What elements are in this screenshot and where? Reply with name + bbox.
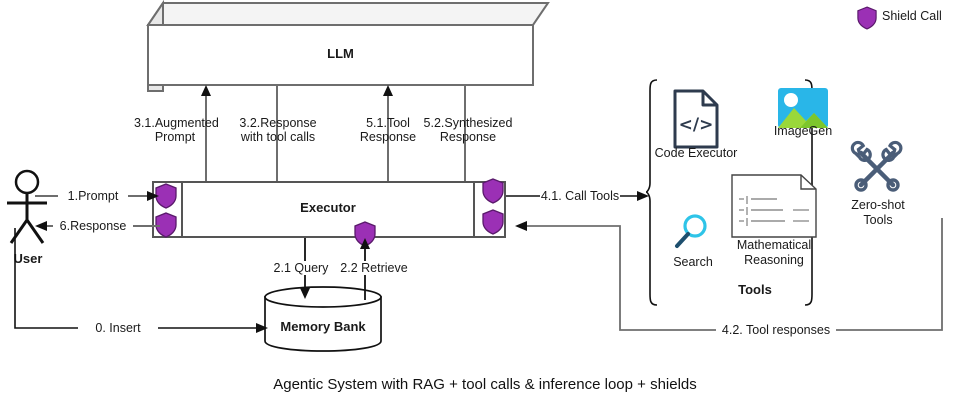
edge-2-1-label: 2.1 Query [266,261,336,275]
shield-icon [482,209,504,235]
math-document-icon [731,174,817,238]
code-document-icon: </> [672,88,720,150]
executor-label: Executor [182,201,474,215]
shield-icon [482,178,504,204]
edge-3-2-label: 3.2.Response with tool calls [233,116,323,144]
legend-label: Shield Call [882,9,968,23]
tool-label-imagegen: ImageGen [770,124,836,139]
tools-group-label: Tools [700,283,810,297]
edge-4-1-label: 4.1. Call Tools [540,189,620,203]
edge-0-label: 0. Insert [78,321,158,335]
svg-text:</>: </> [679,115,714,135]
legend [857,6,877,30]
edge-4-2-label: 4.2. Tool responses [716,323,836,337]
tool-label-search: Search [660,255,726,270]
crossed-wrenches-icon [850,142,904,196]
edge-5-2-label: 5.2.Synthesized Response [422,116,514,144]
llm-label: LLM [148,47,533,61]
edge-1-label: 1.Prompt [58,189,128,203]
diagram-caption: Agentic System with RAG + tool calls & i… [0,376,970,393]
memory-bank-label: Memory Bank [263,320,383,334]
image-icon [778,88,828,128]
tool-label-zero-shot-tools: Zero-shot Tools [838,198,918,228]
tool-label-mathematical-reasoning: Mathematical Reasoning [724,238,824,268]
tool-label-code-executor: Code Executor [650,146,742,161]
llm-top-face [148,3,548,25]
edge-2-2-label: 2.2 Retrieve [334,261,414,275]
edge-5-1-label: 5.1.Tool Response [348,116,428,144]
edge-3-1-label: 3.1.Augmented Prompt [134,116,216,144]
magnifier-icon [672,212,712,252]
